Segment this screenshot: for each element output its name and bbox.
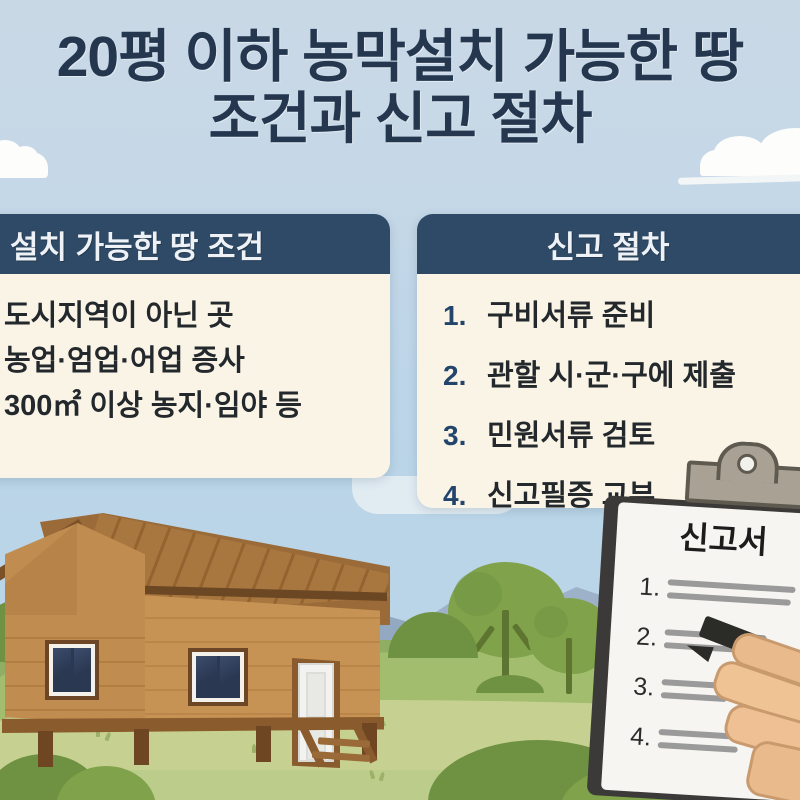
clipboard-row-number: 4. — [629, 722, 659, 753]
title-line-1: 20평 이하 농막설치 가능한 땅 — [0, 26, 800, 88]
procedure-step: 2. 관할 시·군·구에 제출 — [443, 352, 800, 394]
stilt-post — [256, 726, 271, 762]
stilt-post — [38, 731, 53, 767]
window-glass — [53, 648, 91, 692]
wall-front — [140, 595, 380, 725]
condition-item: 농업·엄업·어업 증사 — [4, 347, 374, 376]
stilt-post — [134, 729, 149, 765]
wall-gable-shade — [5, 523, 77, 627]
door-panel-top — [306, 672, 326, 718]
farm-hut-illustration — [0, 495, 420, 755]
clipboard-row-number: 2. — [635, 622, 665, 653]
title-line-2: 조건과 신고 절차 — [0, 88, 800, 150]
clipboard-row-number: 3. — [632, 672, 662, 703]
step-number: 1. — [443, 300, 487, 332]
window-side — [45, 640, 99, 700]
step-label: 민원서류 검토 — [487, 412, 655, 454]
cloud-icon-right — [700, 150, 800, 176]
step-number: 2. — [443, 360, 487, 392]
step-label: 구비서류 준비 — [487, 292, 655, 334]
form-line — [667, 592, 791, 606]
card-land-conditions: 설치 가능한 땅 조건 도시지역이 아닌 곳 농업·엄업·어업 증사 300㎡ … — [0, 214, 390, 478]
window-front — [188, 648, 248, 706]
condition-item: 300㎡ 이상 농지·임야 등 — [4, 392, 374, 421]
card-left-body: 도시지역이 아닌 곳 농업·엄업·어업 증사 300㎡ 이상 농지·임야 등 — [0, 274, 390, 478]
clipboard-row-lines — [667, 579, 796, 606]
card-right-header: 신고 절차 — [417, 214, 800, 274]
entry-steps — [308, 723, 374, 765]
infographic-poster: 20평 이하 농막설치 가능한 땅 조건과 신고 절차 설치 가능한 땅 조건 … — [0, 0, 800, 800]
step-number: 4. — [443, 480, 487, 508]
procedure-step: 1. 구비서류 준비 — [443, 292, 800, 334]
clipboard-row-number: 1. — [639, 572, 669, 603]
window-glass — [196, 656, 240, 698]
form-line — [668, 579, 796, 593]
card-left-header: 설치 가능한 땅 조건 — [0, 214, 390, 274]
condition-item: 도시지역이 아닌 곳 — [4, 302, 374, 331]
step-number: 3. — [443, 420, 487, 452]
hand-with-pen-illustration — [690, 630, 800, 800]
cloud-icon-left — [0, 152, 48, 178]
page-title: 20평 이하 농막설치 가능한 땅 조건과 신고 절차 — [0, 26, 800, 150]
step-label: 관할 시·군·구에 제출 — [487, 352, 736, 394]
